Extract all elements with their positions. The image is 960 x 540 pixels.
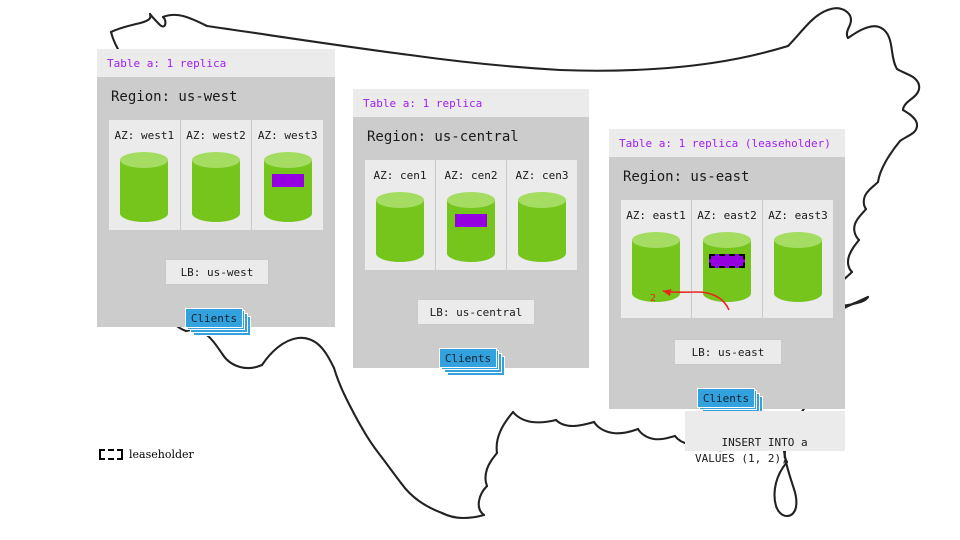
clients-button-us-central[interactable]: Clients <box>439 348 497 368</box>
cylinder-body <box>376 200 424 262</box>
load-balancer-us-east[interactable]: LB: us-east <box>674 339 782 365</box>
az-label: AZ: west1 <box>109 120 180 142</box>
cylinder-body <box>120 160 168 222</box>
az-cell-east2: AZ: east2 <box>692 200 763 318</box>
load-balancer-us-west[interactable]: LB: us-west <box>165 259 269 285</box>
cylinder-body <box>192 160 240 222</box>
az-label: AZ: east3 <box>763 200 833 222</box>
region-panel-us-west: Table a: 1 replica Region: us-west AZ: w… <box>97 49 335 327</box>
clients-label: Clients <box>445 352 491 365</box>
clients-label: Clients <box>703 392 749 405</box>
legend-label: leaseholder <box>129 448 194 461</box>
lb-label: LB: us-east <box>692 346 765 359</box>
region-title: Region: us-central <box>353 117 589 145</box>
clients-label: Clients <box>191 312 237 325</box>
diagram-canvas: Table a: 1 replica Region: us-west AZ: w… <box>0 0 960 540</box>
dashed-rect-icon <box>99 449 123 460</box>
node-cylinder-east1 <box>632 232 680 302</box>
node-cylinder-west2 <box>192 152 240 222</box>
node-cylinder-west1 <box>120 152 168 222</box>
cylinder-top <box>447 192 495 208</box>
cylinder-top <box>192 152 240 168</box>
clients-button-us-east[interactable]: Clients <box>697 388 755 408</box>
region-panel-us-central: Table a: 1 replica Region: us-central AZ… <box>353 89 589 368</box>
cylinder-top <box>376 192 424 208</box>
az-label: AZ: cen2 <box>436 160 506 182</box>
clients-stack-us-west[interactable]: Clients <box>185 308 251 336</box>
cylinder-body <box>774 240 822 302</box>
az-row-us-west: AZ: west1 AZ: west2 AZ: west3 <box>109 120 323 230</box>
cylinder-top <box>703 232 751 248</box>
node-cylinder-cen1 <box>376 192 424 262</box>
load-balancer-us-central[interactable]: LB: us-central <box>417 299 535 325</box>
az-cell-west2: AZ: west2 <box>181 120 253 230</box>
cylinder-top <box>774 232 822 248</box>
replica-count-label: Table a: 1 replica (leaseholder) <box>619 137 831 150</box>
replica-block-east2-leaseholder <box>709 254 745 268</box>
cylinder-top <box>120 152 168 168</box>
cylinder-body <box>703 240 751 302</box>
region-panel-us-east: Table a: 1 replica (leaseholder) Region:… <box>609 129 845 409</box>
az-cell-cen2: AZ: cen2 <box>436 160 507 270</box>
cylinder-body <box>264 160 312 222</box>
replica-block-west3 <box>272 174 304 187</box>
az-cell-cen1: AZ: cen1 <box>365 160 436 270</box>
arrow-step-label: 2 <box>650 293 656 304</box>
az-label: AZ: cen1 <box>365 160 435 182</box>
az-label: AZ: east1 <box>621 200 691 222</box>
node-cylinder-cen3 <box>518 192 566 262</box>
region-body-us-central: Region: us-central AZ: cen1 AZ: cen2 <box>353 117 589 368</box>
lb-label: LB: us-central <box>430 306 523 319</box>
clients-stack-us-central[interactable]: Clients <box>439 348 505 376</box>
node-cylinder-east2 <box>703 232 751 302</box>
region-header-us-central: Table a: 1 replica <box>353 89 589 117</box>
region-body-us-west: Region: us-west AZ: west1 AZ: west2 <box>97 77 335 327</box>
lb-label: LB: us-west <box>181 266 254 279</box>
cylinder-body <box>518 200 566 262</box>
region-header-us-east: Table a: 1 replica (leaseholder) <box>609 129 845 157</box>
az-cell-west3: AZ: west3 <box>252 120 323 230</box>
cylinder-top <box>632 232 680 248</box>
cylinder-body <box>447 200 495 262</box>
az-cell-west1: AZ: west1 <box>109 120 181 230</box>
region-title: Region: us-west <box>97 77 335 105</box>
clients-button-us-west[interactable]: Clients <box>185 308 243 328</box>
az-cell-east1: AZ: east1 <box>621 200 692 318</box>
replica-block-cen2 <box>455 214 487 227</box>
az-row-us-central: AZ: cen1 AZ: cen2 AZ: cen3 <box>365 160 577 270</box>
region-header-us-west: Table a: 1 replica <box>97 49 335 77</box>
az-cell-east3: AZ: east3 <box>763 200 833 318</box>
az-label: AZ: west2 <box>181 120 252 142</box>
node-cylinder-west3 <box>264 152 312 222</box>
region-title: Region: us-east <box>609 157 845 185</box>
region-body-us-east: Region: us-east AZ: east1 AZ: east2 <box>609 157 845 409</box>
cylinder-top <box>518 192 566 208</box>
legend: leaseholder <box>99 448 194 461</box>
node-cylinder-east3 <box>774 232 822 302</box>
az-cell-cen3: AZ: cen3 <box>507 160 577 270</box>
cylinder-top <box>264 152 312 168</box>
replica-count-label: Table a: 1 replica <box>363 97 482 110</box>
az-label: AZ: east2 <box>692 200 762 222</box>
sql-statement-box: INSERT INTO a VALUES (1, 2); <box>685 411 845 451</box>
az-label: AZ: west3 <box>252 120 323 142</box>
node-cylinder-cen2 <box>447 192 495 262</box>
az-label: AZ: cen3 <box>507 160 577 182</box>
replica-count-label: Table a: 1 replica <box>107 57 226 70</box>
